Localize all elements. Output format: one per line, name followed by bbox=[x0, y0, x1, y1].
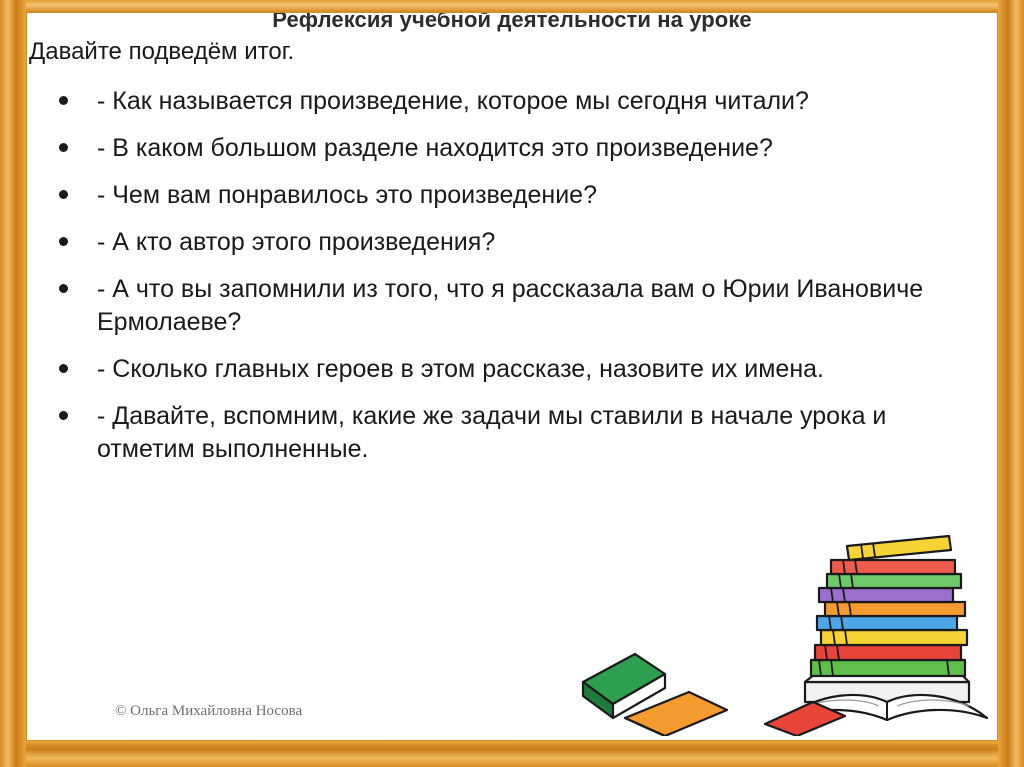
bullet-dot-icon bbox=[59, 143, 68, 152]
list-item-text: - Чем вам понравилось это произведение? bbox=[97, 181, 597, 209]
slide-content: Рефлексия учебной деятельности на уроке … bbox=[27, 13, 997, 740]
bullet-dot-icon bbox=[59, 364, 68, 373]
question-list: - Как называется произведение, которое м… bbox=[29, 85, 959, 480]
list-item-text: - Давайте, вспомним, какие же задачи мы … bbox=[97, 402, 886, 463]
list-item-text: - А кто автор этого произведения? bbox=[97, 228, 495, 256]
copyright-text: © Ольга Михайловна Носова bbox=[115, 703, 302, 720]
list-item-text: - Сколько главных героев в этом рассказе… bbox=[97, 355, 824, 383]
list-item-text: - А что вы запомнили из того, что я расс… bbox=[97, 275, 923, 336]
list-item: - А что вы запомнили из того, что я расс… bbox=[29, 273, 959, 339]
bullet-dot-icon bbox=[59, 96, 68, 105]
list-item: - Как называется произведение, которое м… bbox=[29, 85, 959, 118]
list-item-text: - В каком большом разделе находится это … bbox=[97, 134, 773, 162]
list-item-text: - Как называется произведение, которое м… bbox=[97, 87, 809, 115]
list-item: - Сколько главных героев в этом рассказе… bbox=[29, 353, 959, 386]
list-item: - Давайте, вспомним, какие же задачи мы … bbox=[29, 400, 959, 466]
list-item: - А кто автор этого произведения? bbox=[29, 226, 959, 259]
intro-text: Давайте подведём итог. bbox=[29, 38, 294, 66]
slide: Рефлексия учебной деятельности на уроке … bbox=[0, 0, 1024, 767]
list-item: - Чем вам понравилось это произведение? bbox=[29, 179, 959, 212]
page-title: Рефлексия учебной деятельности на уроке bbox=[27, 13, 997, 33]
stack-of-books-illustration bbox=[569, 506, 989, 736]
bullet-dot-icon bbox=[59, 411, 68, 420]
bullet-dot-icon bbox=[59, 190, 68, 199]
bullet-dot-icon bbox=[59, 237, 68, 246]
bullet-dot-icon bbox=[59, 284, 68, 293]
list-item: - В каком большом разделе находится это … bbox=[29, 132, 959, 165]
